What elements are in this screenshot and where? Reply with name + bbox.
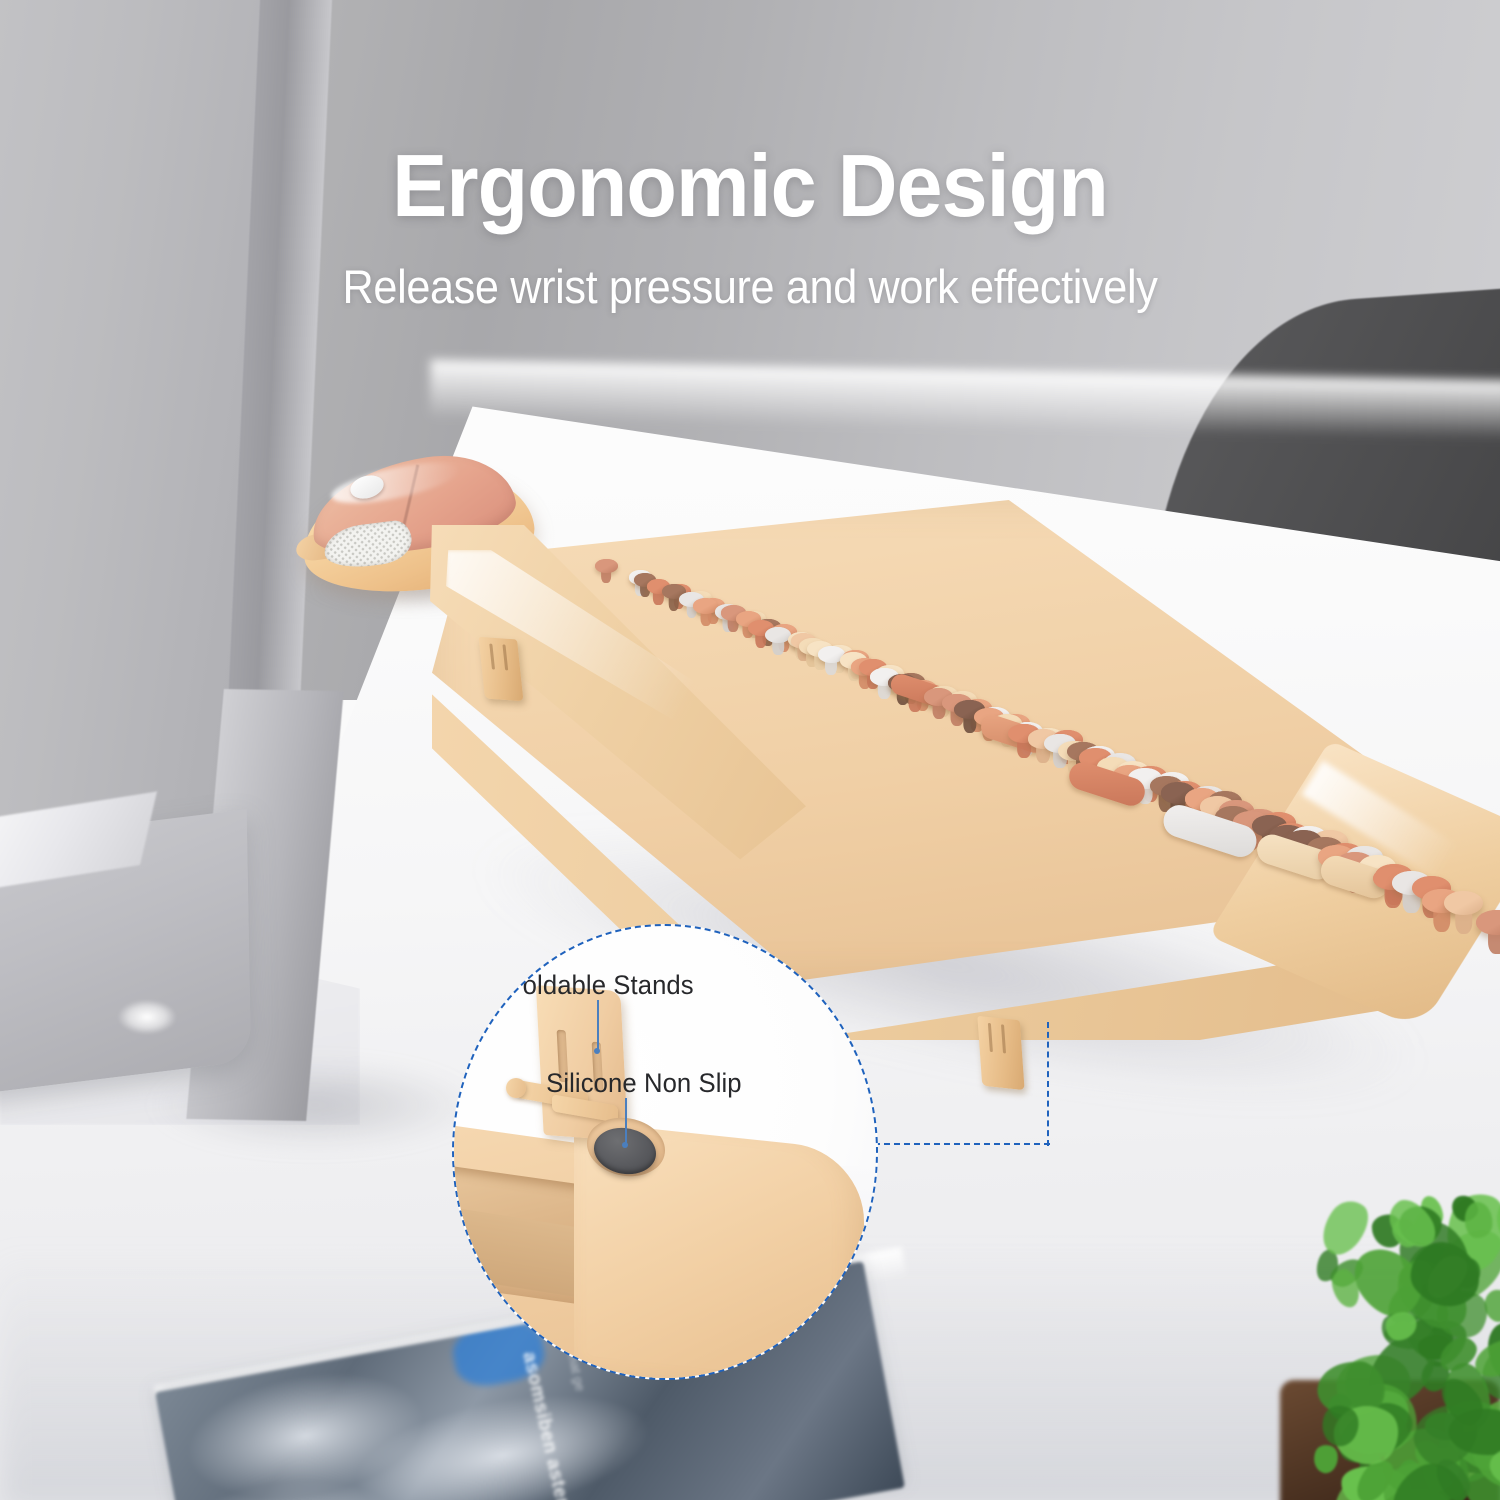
keyboard-foot-left (479, 637, 524, 701)
label-silicone-non-slip: Silicone Non Slip (546, 1068, 742, 1099)
leader-line-silicone (625, 1098, 627, 1146)
page-title: Ergonomic Design (45, 142, 1455, 230)
keyboard-foot-slot (489, 643, 495, 669)
keycap (595, 559, 617, 573)
detail-callout: Foldable Stands Silicone Non Slip (452, 924, 912, 1386)
keyboard-foot-slot (502, 644, 508, 670)
page-subtitle: Release wrist pressure and work effectiv… (60, 263, 1440, 310)
keycap-top (595, 559, 617, 573)
label-foldable-stands: Foldable Stands (507, 970, 694, 1001)
keyboard-foot-right (977, 1016, 1024, 1090)
foldable-stand-pivot (506, 1078, 526, 1098)
leader-line-foldable-stands (597, 1000, 599, 1052)
keyboard-foot-slot (988, 1023, 993, 1053)
callout-connector-vertical (1047, 1022, 1049, 1146)
leader-dot-foldable-stands (594, 1048, 600, 1054)
keyboard-foot-slot (1001, 1024, 1006, 1054)
leader-dot-silicone (622, 1142, 628, 1148)
product-marketing-image: asomsiben aster mat ge Ergonomic Design (0, 0, 1500, 1500)
callout-circle: Foldable Stands Silicone Non Slip (452, 924, 878, 1380)
monitor-stand-highlight (118, 1000, 176, 1034)
